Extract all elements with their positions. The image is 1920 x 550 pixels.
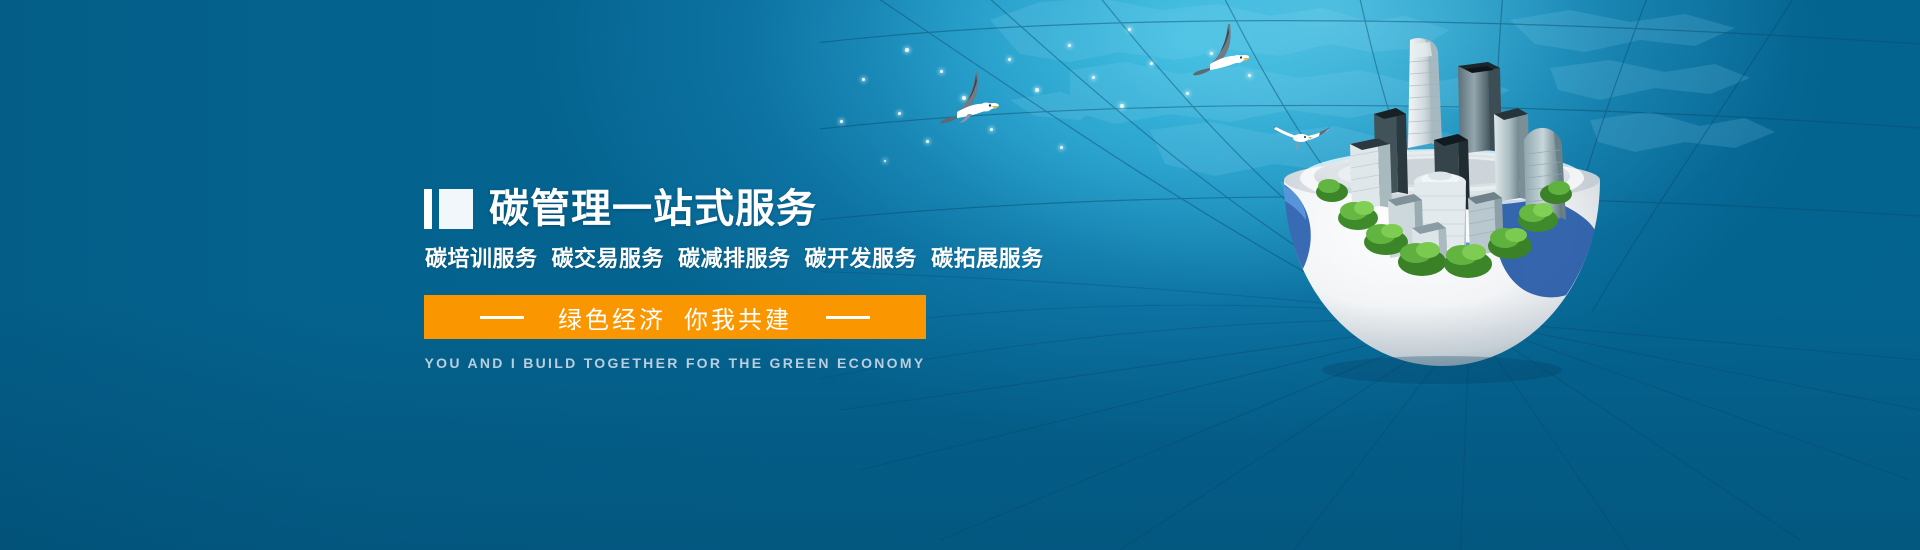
service-item-5: 碳拓展服务 xyxy=(931,246,1044,271)
banner-content: 碳管理一站式服务 碳培训服务碳交易服务碳减排服务碳开发服务碳拓展服务 绿色经济你… xyxy=(424,186,1044,371)
service-list: 碳培训服务碳交易服务碳减排服务碳开发服务碳拓展服务 xyxy=(425,241,1044,273)
slogan-text: 绿色经济你我共建 xyxy=(558,300,792,335)
hero-banner: 碳管理一站式服务 碳培训服务碳交易服务碳减排服务碳开发服务碳拓展服务 绿色经济你… xyxy=(0,0,1920,550)
slogan-rule-left-icon xyxy=(480,316,524,319)
logo-square-icon xyxy=(439,189,473,229)
service-item-4: 碳开发服务 xyxy=(805,246,918,271)
service-item-1: 碳培训服务 xyxy=(425,246,538,271)
english-tagline: YOU AND I BUILD TOGETHER FOR THE GREEN E… xyxy=(424,355,926,371)
page-title: 碳管理一站式服务 xyxy=(489,187,817,231)
title-row: 碳管理一站式服务 xyxy=(424,186,1044,232)
slogan-part-1: 绿色经济 xyxy=(558,307,666,334)
slogan-rule-right-icon xyxy=(826,316,870,319)
logo-bar-icon xyxy=(424,189,432,229)
slogan-banner: 绿色经济你我共建 xyxy=(424,295,926,339)
service-item-3: 碳减排服务 xyxy=(678,246,791,271)
logo-bar-square-mark-icon xyxy=(424,189,473,229)
service-item-2: 碳交易服务 xyxy=(552,246,665,271)
slogan-part-2: 你我共建 xyxy=(684,307,792,334)
